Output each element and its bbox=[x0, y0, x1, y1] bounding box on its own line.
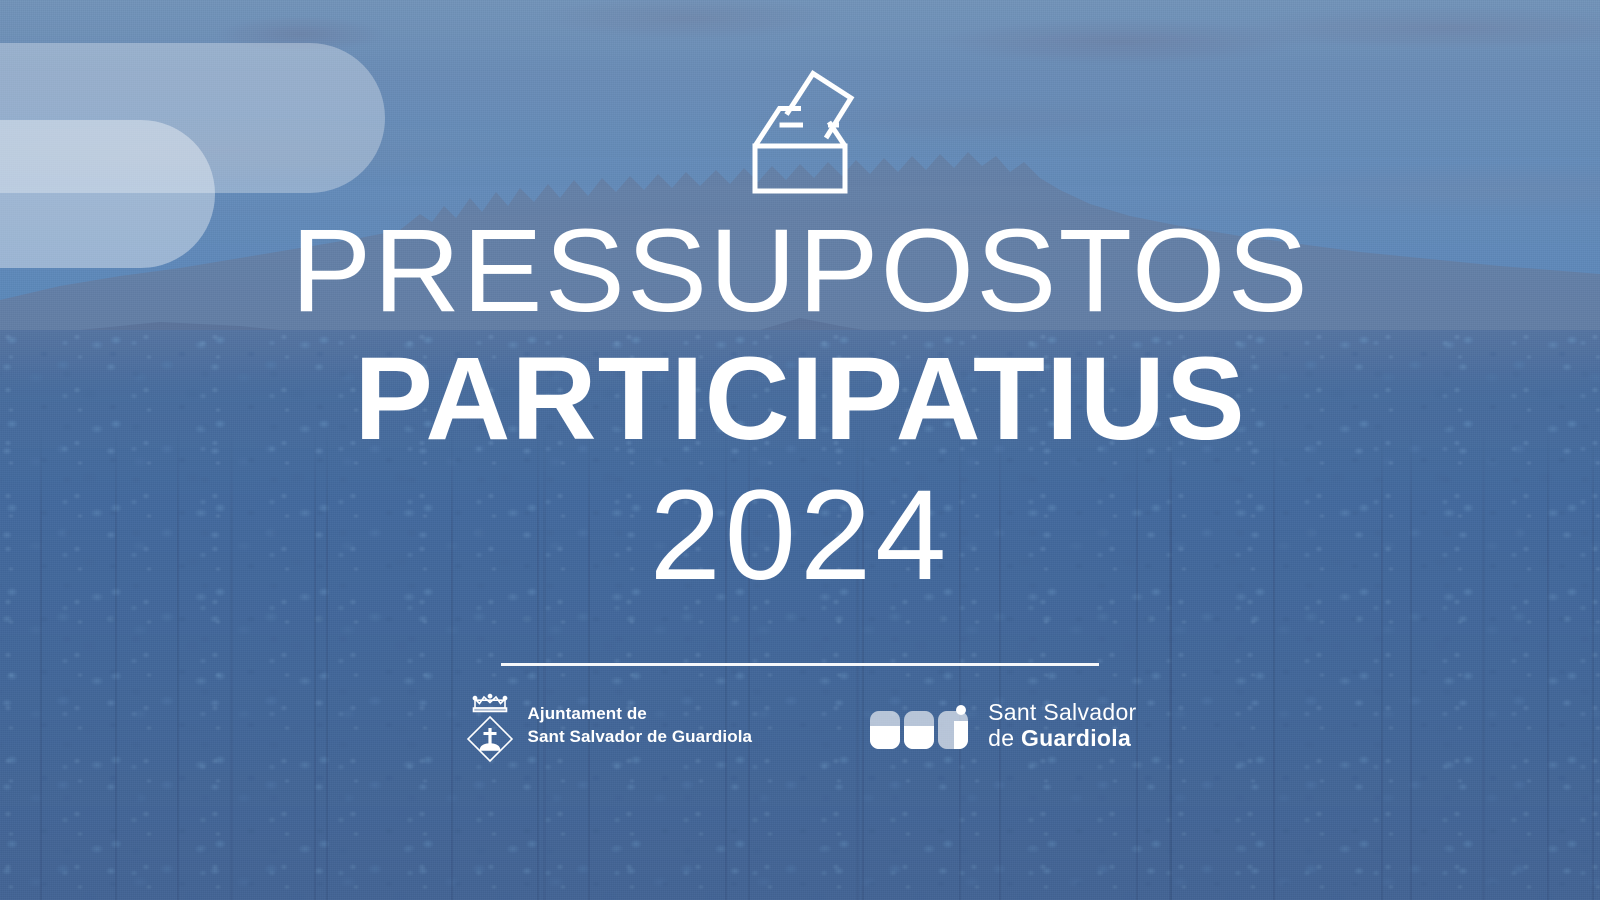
ajuntament-line-1: Ajuntament de bbox=[528, 703, 753, 726]
town-crest-icon bbox=[464, 688, 516, 764]
poster-content: PRESSUPOSTOS PARTICIPATIUS 2024 bbox=[0, 0, 1600, 900]
ssg-line-2: de Guardiola bbox=[988, 726, 1136, 752]
title-year: 2024 bbox=[301, 472, 1300, 600]
ajuntament-text: Ajuntament de Sant Salvador de Guardiola bbox=[528, 703, 753, 748]
title-line-2: PARTICIPATIUS bbox=[301, 340, 1300, 458]
logo-ajuntament: Ajuntament de Sant Salvador de Guardiola bbox=[464, 688, 753, 764]
title-line-1: PRESSUPOSTOS bbox=[291, 212, 1310, 330]
poster-canvas: PRESSUPOSTOS PARTICIPATIUS 2024 bbox=[0, 0, 1600, 900]
ballot-box-icon bbox=[741, 62, 859, 194]
ssg-line-2-bold: Guardiola bbox=[1021, 725, 1131, 751]
ssg-text: Sant Salvador de Guardiola bbox=[988, 700, 1136, 752]
ssg-monogram-icon bbox=[870, 703, 974, 749]
ajuntament-line-2: Sant Salvador de Guardiola bbox=[528, 726, 753, 749]
logo-row: Ajuntament de Sant Salvador de Guardiola bbox=[464, 688, 1137, 764]
logo-ssg: Sant Salvador de Guardiola bbox=[870, 700, 1136, 752]
ssg-line-2-light: de bbox=[988, 725, 1021, 751]
poster-titles: PRESSUPOSTOS PARTICIPATIUS 2024 bbox=[301, 212, 1300, 600]
divider-rule bbox=[501, 663, 1099, 666]
ssg-line-1: Sant Salvador bbox=[988, 700, 1136, 726]
